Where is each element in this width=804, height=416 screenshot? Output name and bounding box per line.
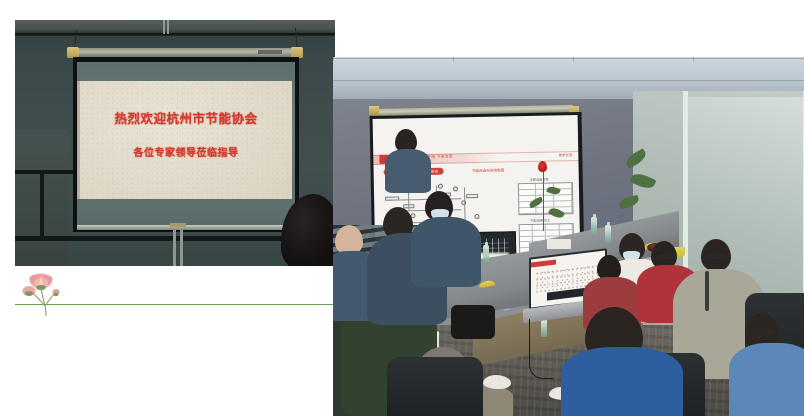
- whiteboard-rail-left: [15, 170, 73, 174]
- handbag: [451, 305, 495, 339]
- laptop-slide-header: [531, 259, 556, 267]
- screen-pull-tab: [170, 223, 186, 227]
- slide-diagram-caption: 节能改造系统流程图: [472, 168, 504, 174]
- flow-node: [453, 186, 458, 191]
- attendee-body: [411, 217, 481, 287]
- roller-end-cap-left: [369, 106, 379, 115]
- lanyard: [705, 271, 709, 311]
- attendee-body-blue-shirt: [729, 343, 804, 416]
- flow-box: [466, 194, 478, 198]
- eyeglasses: [753, 331, 773, 334]
- left-photo-projector-welcome-slide: 热烈欢迎杭州市节能协会 各位专家领导莅临指导: [15, 20, 335, 266]
- ceiling-joint-right: [167, 20, 169, 34]
- flow-node: [438, 183, 443, 188]
- eyeglasses: [659, 255, 675, 258]
- red-rose: [538, 161, 547, 172]
- papers: [547, 239, 571, 249]
- slide-title: 热烈欢迎杭州市节能协会: [80, 108, 292, 127]
- screen-stand-pole-right: [180, 230, 183, 266]
- chair: [387, 357, 483, 416]
- projected-slide-area: 热烈欢迎杭州市节能协会 各位专家领导莅临指导: [80, 81, 292, 199]
- slide-header-right-text: 技术交流: [559, 152, 573, 157]
- slide-table-title-1: 主要设备参数: [530, 176, 549, 181]
- flow-node: [474, 214, 479, 219]
- water-bottle: [605, 225, 611, 243]
- slide-canvas: 热烈欢迎杭州市节能协会 各位专家领导莅临指导: [0, 0, 804, 416]
- water-bottle: [591, 217, 597, 235]
- water-bottle: [483, 245, 489, 263]
- eyeglasses: [707, 255, 725, 258]
- ceiling-seam: [15, 33, 335, 35]
- ceiling-joint-left: [163, 20, 165, 34]
- pink-carnation-flower-icon: [19, 272, 89, 320]
- shoe: [483, 375, 511, 389]
- slide-subtitle: 各位专家领导莅临指导: [80, 144, 292, 159]
- screen-stand-pole-left: [173, 230, 176, 266]
- power-cable: [529, 319, 553, 379]
- whiteboard-rail-post: [40, 170, 44, 240]
- screen-weight-bar: [77, 225, 296, 230]
- right-photo-conference-room-meeting: 产品概述 能耗与生产线 下表为表 技术交流 项目概况 某公司节能改造项目 节能改…: [333, 57, 804, 416]
- slide-table-title-2: 节能效果对比: [530, 218, 549, 223]
- rose-stem: [543, 169, 544, 231]
- attendee-body-blue-polo: [561, 347, 683, 416]
- roller-label: [258, 50, 282, 54]
- attendee-body: [385, 149, 431, 193]
- slide-data-table-1: [517, 182, 573, 216]
